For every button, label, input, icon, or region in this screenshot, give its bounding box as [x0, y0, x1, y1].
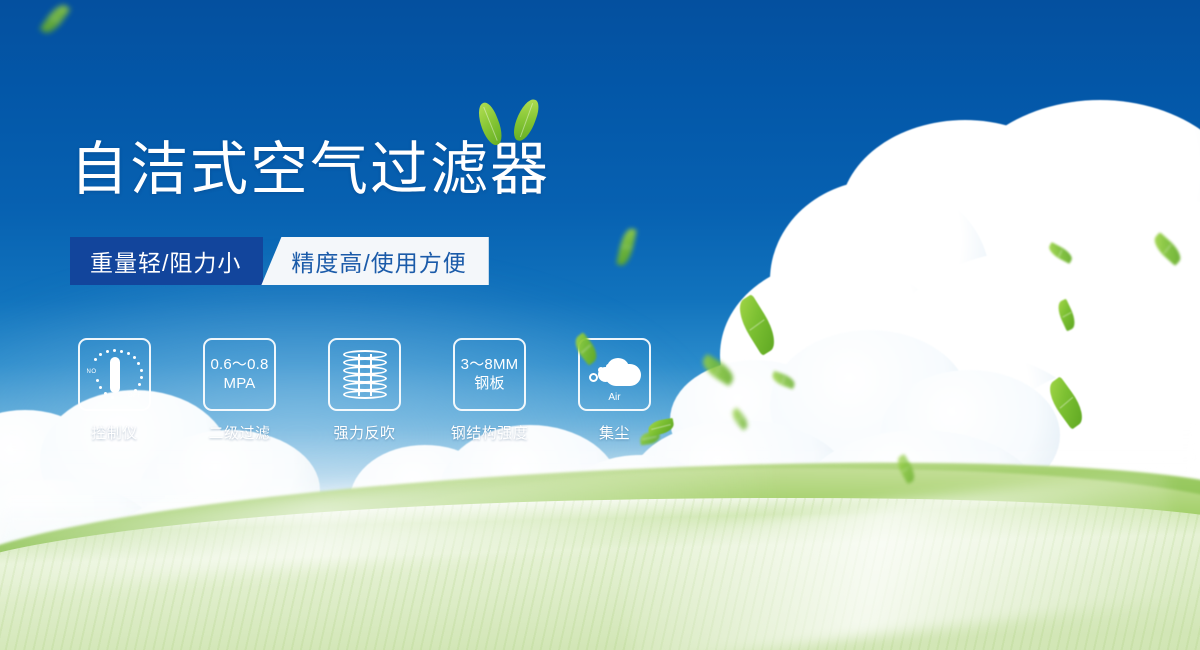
feature-label: 集尘 [599, 422, 630, 443]
feature-icon-box: 3～8MM 钢板 [453, 338, 526, 411]
gauge-label-off: OFF [128, 393, 142, 399]
subtitle-segment-right: 精度高/使用方便 [261, 237, 488, 285]
feature-icon-box: 0.6～0.8 MPA [203, 338, 276, 411]
feature-label: 二级过滤 [208, 422, 270, 443]
feature-item-steel[interactable]: 3～8MM 钢板 钢结构强度 [453, 338, 526, 443]
feature-item-controller[interactable]: NO OFF 控制仪 [78, 338, 151, 443]
feature-label: 控制仪 [91, 422, 138, 443]
air-label: Air [587, 392, 643, 403]
product-banner: 自洁式空气过滤器 重量轻/阻力小 精度高/使用方便 [0, 0, 1200, 650]
feature-value-line1: 0.6～0.8 [210, 356, 268, 374]
feature-label: 钢结构强度 [451, 422, 529, 443]
feature-value-line2: MPA [224, 375, 256, 393]
coil-icon [343, 350, 387, 400]
feature-value-line1: 3～8MM [461, 356, 519, 374]
feature-label: 强力反吹 [333, 422, 395, 443]
title-block: 自洁式空气过滤器 [70, 140, 550, 198]
gauge-label-no: NO [87, 369, 97, 375]
feature-icon-box [328, 338, 401, 411]
subtitle-segment-left: 重量轻/阻力小 [70, 237, 263, 285]
grass-field [0, 420, 1200, 650]
feature-value-line2: 钢板 [474, 375, 504, 393]
feature-item-pressure[interactable]: 0.6～0.8 MPA 二级过滤 [203, 338, 276, 443]
feature-item-backflush[interactable]: 强力反吹 [328, 338, 401, 443]
gauge-icon: NO OFF [87, 349, 143, 401]
feature-list: NO OFF 控制仪 0.6～0.8 MPA 二级过滤 [78, 338, 651, 443]
page-title: 自洁式空气过滤器 [70, 140, 550, 198]
subtitle-bar: 重量轻/阻力小 精度高/使用方便 [70, 237, 489, 285]
sprout-leaves-icon [475, 96, 555, 148]
feature-icon-box: NO OFF [78, 338, 151, 411]
